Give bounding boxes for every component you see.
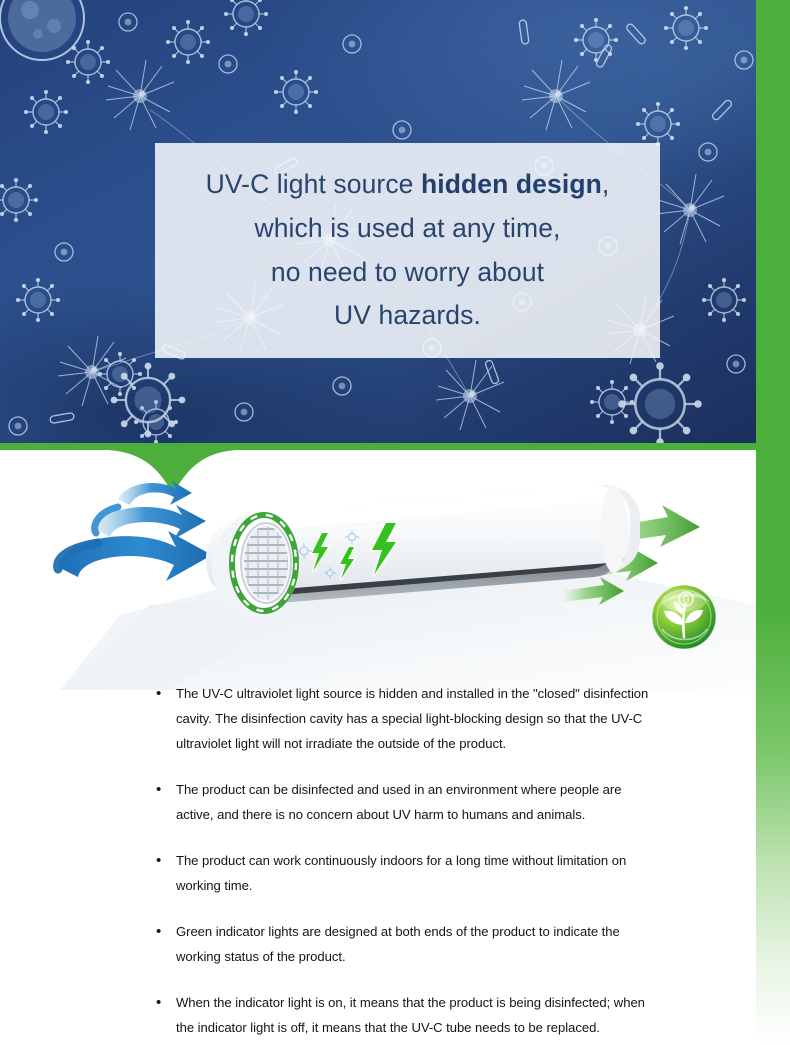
headline-line-4: UV hazards. <box>334 294 481 338</box>
headline-text-plain: UV-C light source <box>206 169 421 199</box>
eco-leaf-badge-icon <box>652 585 716 649</box>
headline-panel: UV-C light source hidden design, which i… <box>155 143 660 358</box>
list-item-text: Green indicator lights are designed at b… <box>176 919 662 969</box>
product-illustration <box>0 455 756 690</box>
list-item-text: The product can work continuously indoor… <box>176 848 662 898</box>
list-item-text: The UV-C ultraviolet light source is hid… <box>176 681 662 756</box>
hero-banner: UV-C light source hidden design, which i… <box>0 0 756 449</box>
bullet-marker: • <box>152 777 176 827</box>
bullet-marker: • <box>152 848 176 898</box>
headline-line-3: no need to worry about <box>271 251 544 295</box>
bullet-marker: • <box>152 990 176 1040</box>
list-item: • The product can be disinfected and use… <box>152 777 662 827</box>
bullet-marker: • <box>152 919 176 969</box>
list-item: • When the indicator light is on, it mea… <box>152 990 662 1040</box>
list-item: • Green indicator lights are designed at… <box>152 919 662 969</box>
headline-line-2: which is used at any time, <box>254 207 560 251</box>
headline-text-bold: hidden design <box>421 169 602 199</box>
headline-text-comma: , <box>602 169 609 199</box>
list-item-text: When the indicator light is on, it means… <box>176 990 662 1040</box>
list-item: • The product can work continuously indo… <box>152 848 662 898</box>
bullet-marker: • <box>152 681 176 756</box>
poster-page: UV-C light source hidden design, which i… <box>0 0 790 1045</box>
list-item-text: The product can be disinfected and used … <box>176 777 662 827</box>
intake-airflow-arrows <box>58 481 212 581</box>
list-item: • The UV-C ultraviolet light source is h… <box>152 681 662 756</box>
headline-line-1: UV-C light source hidden design, <box>206 163 610 207</box>
feature-list: • The UV-C ultraviolet light source is h… <box>152 681 662 1040</box>
side-green-strip <box>756 0 790 1045</box>
